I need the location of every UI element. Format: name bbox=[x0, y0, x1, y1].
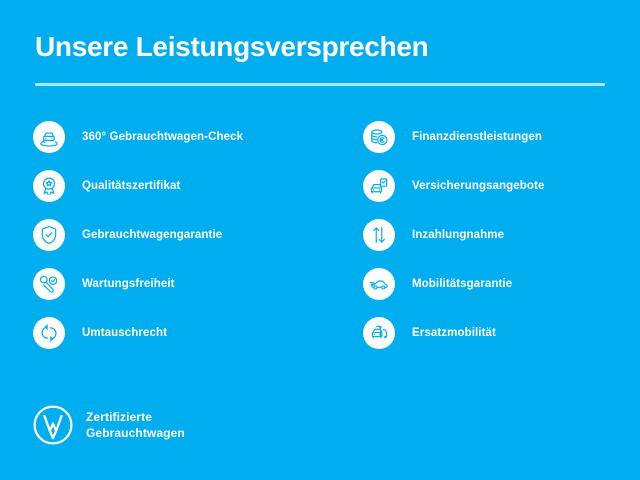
benefit-label: Ersatzmobilität bbox=[412, 327, 496, 339]
exchange-arrows-icon bbox=[33, 317, 65, 349]
benefit-item-quality-certificate[interactable]: Qualitätszertifikat bbox=[33, 161, 333, 210]
car-motion-check-icon bbox=[363, 268, 395, 300]
up-down-arrows-icon bbox=[363, 219, 395, 251]
footer-line-2: Gebrauchtwagen bbox=[86, 425, 185, 441]
benefit-label: 360° Gebrauchtwagen-Check bbox=[82, 131, 243, 143]
benefit-label: Finanzdienstleistungen bbox=[412, 131, 542, 143]
benefit-item-financial-services[interactable]: Finanzdienstleistungen bbox=[363, 112, 633, 161]
benefit-item-insurance-offers[interactable]: Versicherungsangebote bbox=[363, 161, 633, 210]
quality-rosette-icon bbox=[33, 170, 65, 202]
benefit-item-360-check[interactable]: 360° Gebrauchtwagen-Check bbox=[33, 112, 333, 161]
two-cars-icon bbox=[363, 317, 395, 349]
benefit-label: Inzahlungnahme bbox=[412, 229, 504, 241]
shield-check-icon bbox=[33, 219, 65, 251]
coins-euro-icon bbox=[363, 121, 395, 153]
header-divider bbox=[35, 83, 605, 86]
footer-brand: Zertifizierte Gebrauchtwagen bbox=[32, 404, 185, 446]
footer-line-1: Zertifizierte bbox=[86, 409, 185, 425]
benefit-item-exchange-right[interactable]: Umtauschrecht bbox=[33, 308, 333, 357]
footer-text: Zertifizierte Gebrauchtwagen bbox=[86, 409, 185, 441]
car-360-check-icon bbox=[33, 121, 65, 153]
benefit-item-trade-in[interactable]: Inzahlungnahme bbox=[363, 210, 633, 259]
benefit-label: Versicherungsangebote bbox=[412, 180, 544, 192]
vw-logo-icon bbox=[32, 404, 74, 446]
benefit-label: Gebrauchtwagengarantie bbox=[82, 229, 222, 241]
benefit-label: Umtauschrecht bbox=[82, 327, 167, 339]
benefit-item-warranty[interactable]: Gebrauchtwagengarantie bbox=[33, 210, 333, 259]
benefits-left-column: 360° Gebrauchtwagen-Check Qualitätszerti… bbox=[33, 112, 333, 357]
header: Unsere Leistungsversprechen bbox=[35, 30, 605, 86]
benefit-item-replacement-mobility[interactable]: Ersatzmobilität bbox=[363, 308, 633, 357]
benefits-grid: 360° Gebrauchtwagen-Check Qualitätszerti… bbox=[0, 112, 640, 357]
benefit-label: Mobilitätsgarantie bbox=[412, 278, 512, 290]
car-document-icon bbox=[363, 170, 395, 202]
promise-panel: Unsere Leistungsversprechen 360° Gebrauc… bbox=[0, 0, 640, 480]
benefit-item-mobility-guarantee[interactable]: Mobilitätsgarantie bbox=[363, 259, 633, 308]
benefit-label: Qualitätszertifikat bbox=[82, 180, 180, 192]
benefit-label: Wartungsfreiheit bbox=[82, 278, 175, 290]
wrench-check-icon bbox=[33, 268, 65, 300]
page-title: Unsere Leistungsversprechen bbox=[35, 30, 605, 64]
benefit-item-maintenance-free[interactable]: Wartungsfreiheit bbox=[33, 259, 333, 308]
benefits-right-column: Finanzdienstleistungen Versicherungsange… bbox=[363, 112, 633, 357]
